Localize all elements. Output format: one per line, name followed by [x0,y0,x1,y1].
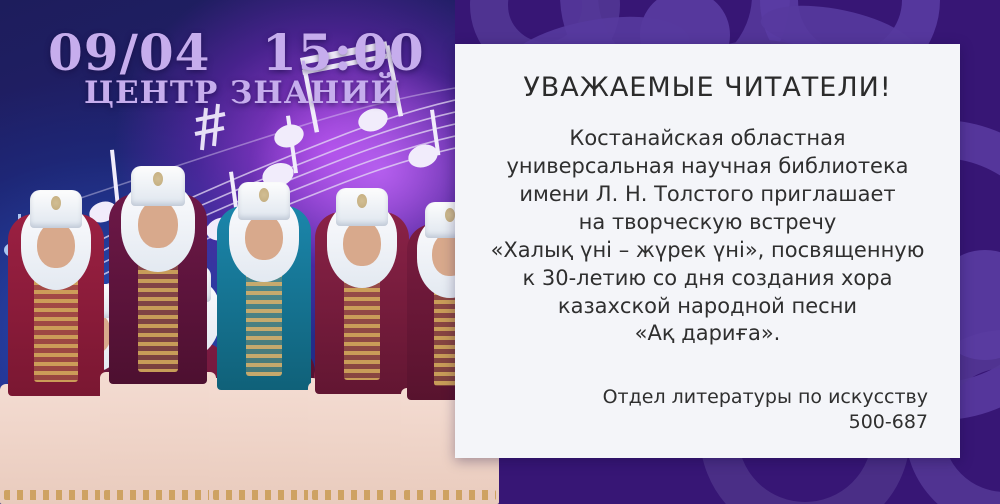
announcement-line: на творческую встречу [475,209,940,237]
event-time: 15:00 [262,28,425,78]
announcement-card: УВАЖАЕМЫЕ ЧИТАТЕЛИ! Костанайская областн… [455,44,960,458]
announcement-line: к 30-летию со дня создания хора [475,265,940,293]
announcement-line: универсальная научная библиотека [475,153,940,181]
event-datetime-block: 09/04 15:00 ЦЕНТР ЗНАНИЙ [0,0,455,130]
footer-phone: 500-687 [475,410,928,436]
announcement-line: Костанайская областная [475,125,940,153]
poster-root: 09/04 15:00 ЦЕНТР ЗНАНИЙ УВАЖАЕМЫЕ ЧИТАТ… [0,0,1000,504]
stage-backdrop: 09/04 15:00 ЦЕНТР ЗНАНИЙ [0,0,455,504]
announcement-line: казахской народной песни [475,293,940,321]
choir-member-front-3 [208,186,320,504]
announcement-title: УВАЖАЕМЫЕ ЧИТАТЕЛИ! [475,72,940,103]
choir-member-front-2 [98,174,218,504]
announcement-line: «Ақ дариға». [475,320,940,348]
footer-department: Отдел литературы по искусству [475,385,928,411]
announcement-body: Костанайская областная универсальная нау… [475,125,940,348]
event-venue: ЦЕНТР ЗНАНИЙ [84,78,401,109]
kazakh-choir-photo [0,174,484,504]
event-date: 09/04 [48,28,210,78]
announcement-line: «Халық үні – жүрек үні», посвященную [475,237,940,265]
announcement-line: имени Л. Н. Толстого приглашает [475,181,940,209]
announcement-footer: Отдел литературы по искусству 500-687 [475,385,940,446]
choir-member-front-1 [0,192,114,504]
